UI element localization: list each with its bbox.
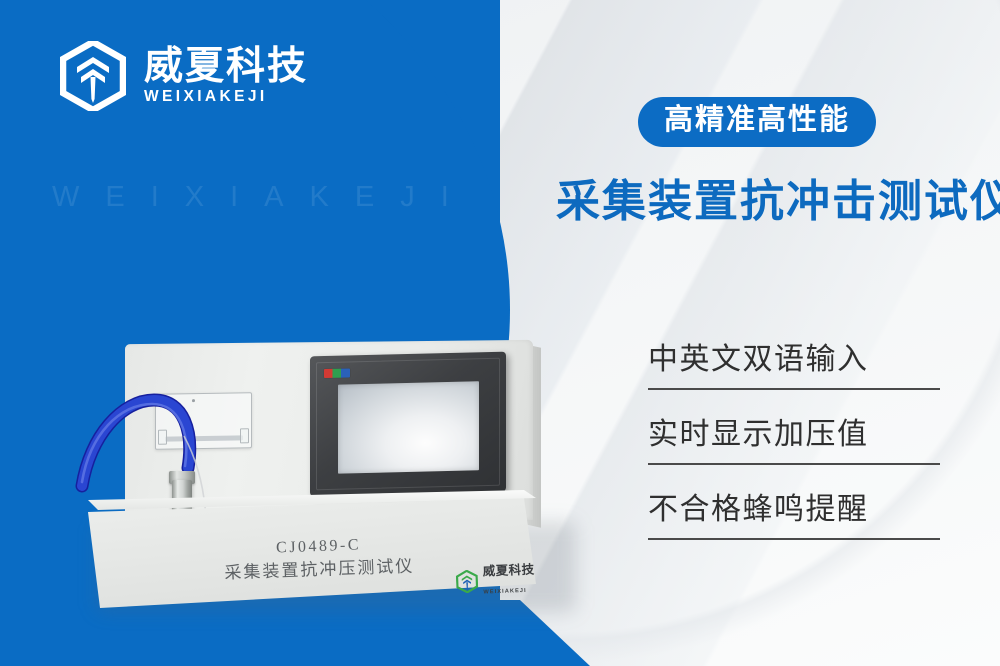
device-hexagon-logo-icon xyxy=(456,569,479,593)
device-logo-text: 威夏科技 WEIXIAKEJI xyxy=(482,561,535,599)
device-brand-name-cn: 威夏科技 xyxy=(482,563,534,579)
feature-label: 不合格蜂鸣提醒 xyxy=(648,495,943,538)
brand-logo-text: 威夏科技 WEIXIAKEJI xyxy=(144,47,308,104)
device-brand-logo: 威夏科技 WEIXIAKEJI xyxy=(455,561,535,600)
feature-divider xyxy=(648,538,940,540)
brand-name-cn: 威夏科技 xyxy=(144,47,308,88)
brand-name-en: WEIXIAKEJI xyxy=(144,89,308,105)
feature-item: 不合格蜂鸣提醒 xyxy=(648,495,943,540)
device-brand-name-en: WEIXIAKEJI xyxy=(483,588,527,596)
highlight-badge: 高精准高性能 xyxy=(638,97,876,147)
feature-list: 中英文双语输入 实时显示加压值 不合格蜂鸣提醒 xyxy=(648,345,943,570)
product-banner: WEIXIAKEJI 威夏科技 WEIXIAKEJI 高精准高性能 采集装置抗冲… xyxy=(0,0,1000,666)
feature-divider xyxy=(648,463,940,465)
feature-label: 中英文双语输入 xyxy=(648,345,943,388)
feature-label: 实时显示加压值 xyxy=(648,420,943,463)
brand-logo: 威夏科技 WEIXIAKEJI xyxy=(60,41,308,111)
feature-item: 实时显示加压值 xyxy=(648,420,943,465)
hexagon-logo-icon xyxy=(60,41,126,111)
page-title: 采集装置抗冲击测试仪 xyxy=(556,165,1000,229)
product-device-image: CJ0489-C 采集装置抗冲压测试仪 威夏科技 WEIXIAKEJI xyxy=(88,340,588,610)
feature-item: 中英文双语输入 xyxy=(648,345,943,390)
feature-divider xyxy=(648,388,940,390)
watermark-text: WEIXIAKEJI xyxy=(52,181,475,214)
